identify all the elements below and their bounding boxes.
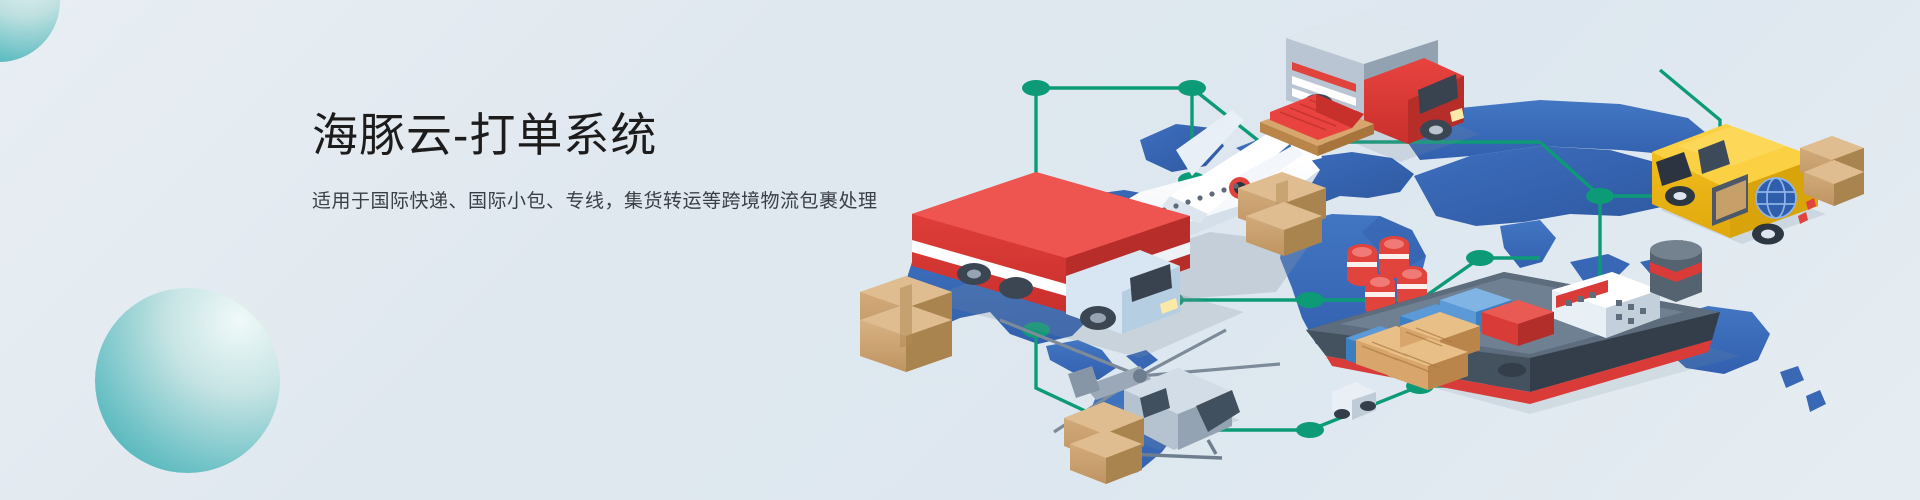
isometric-global-logistics-map (840, 0, 1920, 500)
cardboard-boxes-icon (860, 276, 952, 372)
cardboard-boxes-icon (1064, 402, 1144, 484)
cargo-van-icon (1652, 124, 1864, 245)
cardboard-boxes-icon (1238, 172, 1326, 256)
decorative-circle-top-left (0, 0, 60, 62)
decorative-circle-bottom-left (95, 288, 280, 473)
promo-banner: 海豚云-打单系统 适用于国际快递、国际小包、专线，集货转运等跨境物流包裹处理 (0, 0, 1920, 500)
